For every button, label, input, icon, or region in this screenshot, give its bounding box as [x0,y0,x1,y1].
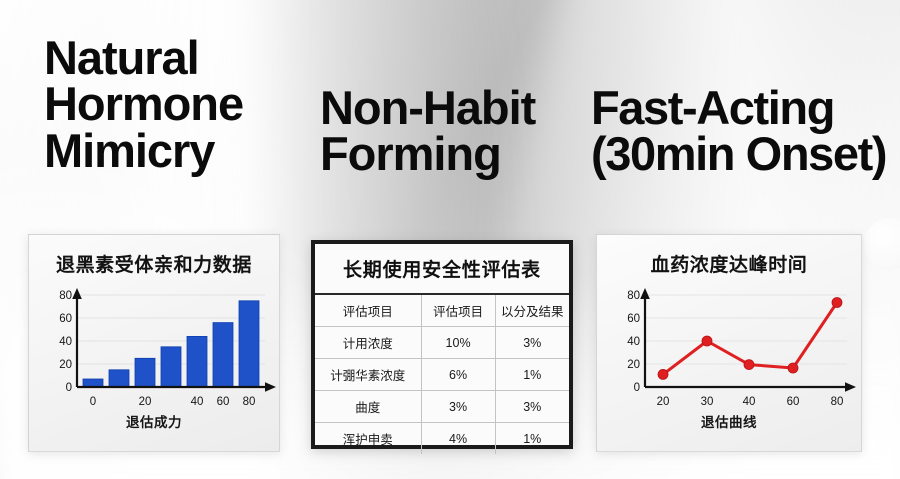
svg-text:30: 30 [701,396,714,408]
line-chart-x-ticks: 20 30 40 60 80 [657,396,844,408]
svg-text:60: 60 [627,313,640,325]
data-point [788,363,798,373]
bar-chart-x-ticks: 0 20 40 80 [90,396,256,408]
svg-text:20: 20 [59,359,72,371]
svg-text:60: 60 [787,396,800,408]
bar-item [161,347,181,387]
svg-text:40: 40 [59,336,72,348]
table-cell: 10% [421,327,495,359]
headline-natural-hormone-mimicry: Natural Hormone Mimicry [44,35,243,174]
line-chart-gridlines [645,295,847,364]
headline-fast-acting: Fast-Acting (30min Onset) [591,85,886,178]
svg-text:20: 20 [139,396,152,408]
table-cell: 1% [495,359,569,391]
data-point [832,298,842,308]
table-cell: 曲度 [315,391,421,423]
bar-item [83,379,103,387]
svg-text:60: 60 [217,396,230,408]
data-point [702,336,712,346]
table-header-cell: 评估项目 [315,295,421,327]
card-safety-table: 长期使用安全性评估表 评估项目 评估项目 以分及结果 计用浓度 10% 3% 计… [311,240,573,449]
bar-chart-y-axis [72,288,82,387]
safety-table: 评估项目 评估项目 以分及结果 计用浓度 10% 3% 计弸华素浓度 6% 1%… [315,295,569,454]
bar-item [187,336,207,387]
infographic-canvas: Natural Hormone Mimicry Non-Habit Formin… [0,0,900,479]
svg-text:80: 80 [831,396,844,408]
svg-text:60: 60 [59,313,72,325]
svg-text:0: 0 [634,382,640,394]
svg-text:40: 40 [191,396,204,408]
table-header-cell: 评估项目 [421,295,495,327]
svg-text:0: 0 [90,396,96,408]
table-cell: 计用浓度 [315,327,421,359]
bar-item [239,301,259,387]
table-cell: 3% [421,391,495,423]
line-chart-svg: 0 20 40 60 80 20 30 40 60 80 [597,283,863,415]
bar-item [109,370,129,387]
data-point [744,360,754,370]
line-chart-plot: 0 20 40 60 80 20 30 40 60 80 [597,283,861,415]
svg-text:20: 20 [627,359,640,371]
bar-item [135,358,155,387]
card-line-chart: 血药浓度达峰时间 [596,234,862,452]
table-row: 曲度 3% 3% [315,391,569,423]
table-cell: 浑护申卖 [315,423,421,455]
svg-text:40: 40 [627,336,640,348]
headline-non-habit-forming: Non-Habit Forming [320,85,535,178]
table-cell: 3% [495,327,569,359]
bar-chart-y-ticks: 0 20 40 60 80 [59,290,72,394]
line-chart-y-axis [640,288,650,387]
svg-text:0: 0 [66,382,72,394]
svg-text:80: 80 [243,396,256,408]
table-cell: 6% [421,359,495,391]
line-chart-y-ticks: 0 20 40 60 80 [627,290,640,394]
safety-table-title: 长期使用安全性评估表 [315,244,569,295]
table-cell: 4% [421,423,495,455]
line-chart-x-axis [645,382,856,392]
svg-text:80: 80 [59,290,72,302]
svg-text:20: 20 [657,396,670,408]
bar-chart-svg: 0 20 40 60 80 0 20 40 80 60 [29,283,281,415]
table-header-row: 评估项目 评估项目 以分及结果 [315,295,569,327]
table-cell: 1% [495,423,569,455]
bar-series [83,301,259,387]
line-chart-title: 血药浓度达峰时间 [597,235,861,277]
table-cell: 计弸华素浓度 [315,359,421,391]
table-row: 计弸华素浓度 6% 1% [315,359,569,391]
svg-text:40: 40 [743,396,756,408]
table-cell: 3% [495,391,569,423]
bar-chart-title: 退黑素受体亲和力数据 [29,235,279,277]
bar-chart-plot: 0 20 40 60 80 0 20 40 80 60 [29,283,279,415]
table-header-cell: 以分及结果 [495,295,569,327]
table-row: 浑护申卖 4% 1% [315,423,569,455]
card-bar-chart: 退黑素受体亲和力数据 [28,234,280,452]
svg-text:80: 80 [627,290,640,302]
table-row: 计用浓度 10% 3% [315,327,569,359]
bar-item [213,323,233,387]
data-point [658,369,668,379]
